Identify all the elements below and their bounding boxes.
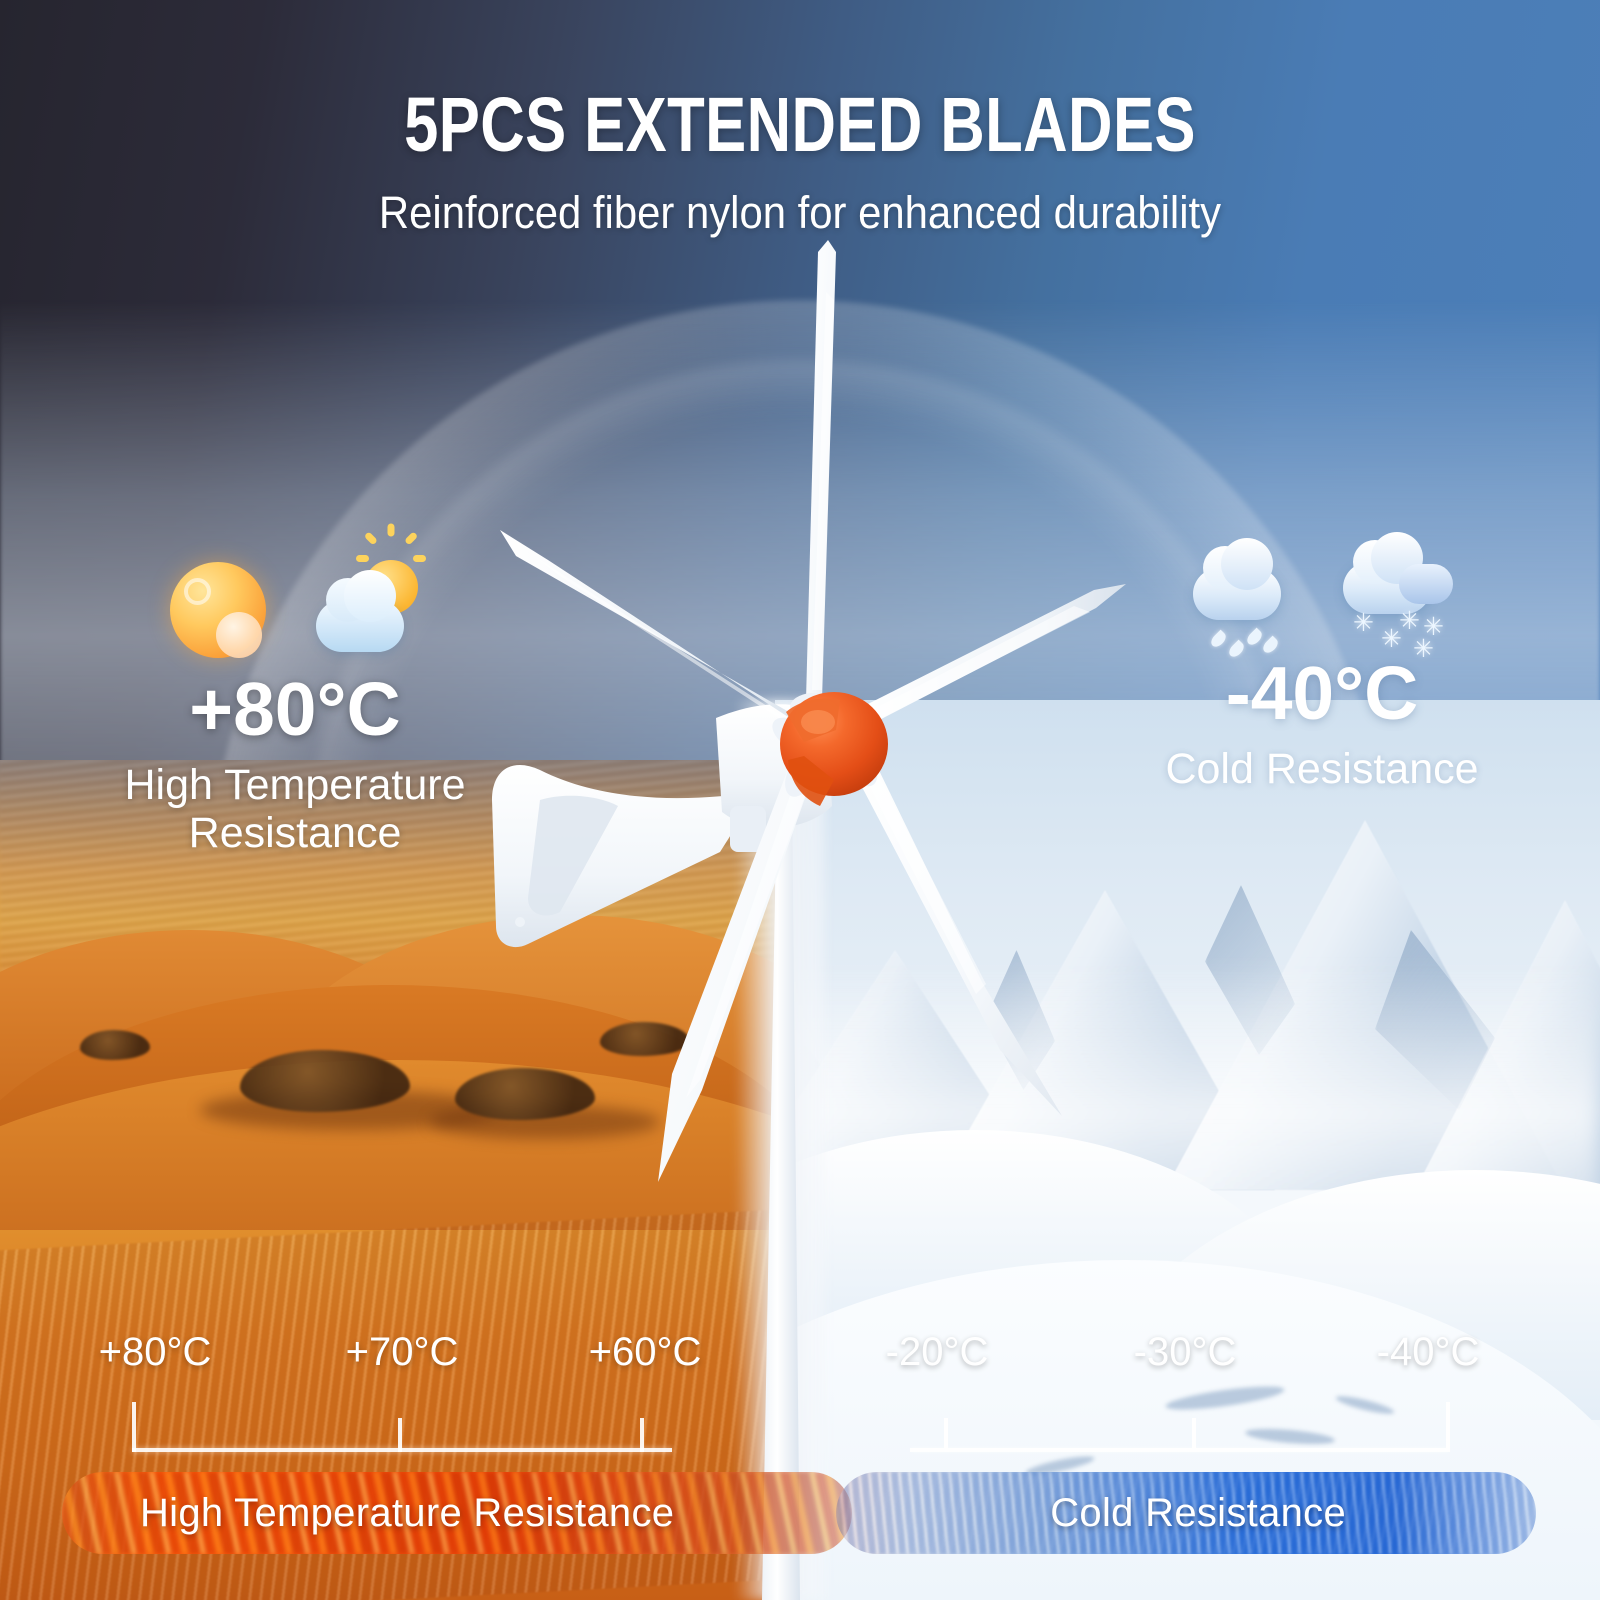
banner-cold-resistance: Cold Resistance	[836, 1472, 1536, 1554]
scale-tick-label: +70°C	[346, 1330, 459, 1375]
feature-temperature-value: +80°C	[100, 672, 490, 747]
scale-axis-hot	[132, 1400, 672, 1452]
feature-cold-resistance: ✳ ✳ ✳ ✳ ✳ -40°C Cold Resistance	[1112, 500, 1532, 793]
desert-bush	[80, 1030, 150, 1060]
feature-label: High Temperature Resistance	[100, 761, 490, 857]
cloud-with-snow-icon: ✳ ✳ ✳ ✳ ✳	[1341, 538, 1453, 650]
bottom-banners: High Temperature Resistance Cold Resista…	[0, 1472, 1600, 1558]
scale-tick-label: +80°C	[99, 1330, 212, 1375]
product-feature-poster: 5PCS EXTENDED BLADES Reinforced fiber ny…	[0, 0, 1600, 1600]
scale-axis-cold	[910, 1400, 1450, 1452]
feature-label-line1: Cold Resistance	[1112, 745, 1532, 793]
page-title: 5PCS EXTENDED BLADES	[160, 86, 1440, 165]
banner-high-temperature-resistance: High Temperature Resistance	[62, 1472, 852, 1554]
sun-behind-cloud-icon	[314, 554, 426, 666]
cloud-with-rain-icon	[1191, 538, 1303, 650]
feature-label-line2: Resistance	[100, 809, 490, 857]
scale-tick-label: -30°C	[1134, 1330, 1237, 1375]
feature-label: Cold Resistance	[1112, 745, 1532, 793]
scale-tick-label: +60°C	[589, 1330, 702, 1375]
scale-tick-label: -40°C	[1377, 1330, 1480, 1375]
banner-hot-label: High Temperature Resistance	[140, 1491, 674, 1536]
feature-high-temperature: +80°C High Temperature Resistance	[100, 516, 490, 857]
page-subtitle: Reinforced fiber nylon for enhanced dura…	[56, 187, 1544, 239]
temperature-scale: +80°C +70°C +60°C -20°C -30°C -40°C	[0, 1330, 1600, 1460]
banner-cold-label: Cold Resistance	[1050, 1491, 1346, 1536]
feature-label-line1: High Temperature	[100, 761, 490, 809]
scene-seam	[735, 700, 825, 1600]
feature-icons: ✳ ✳ ✳ ✳ ✳	[1112, 500, 1532, 650]
snow-mountain-scene	[775, 700, 1600, 1600]
header-block: 5PCS EXTENDED BLADES Reinforced fiber ny…	[0, 86, 1600, 239]
desert-bush	[600, 1022, 690, 1056]
scale-tick-label: -20°C	[886, 1330, 989, 1375]
sun-icon	[164, 554, 276, 666]
feature-temperature-value: -40°C	[1112, 656, 1532, 731]
feature-icons	[100, 516, 490, 666]
